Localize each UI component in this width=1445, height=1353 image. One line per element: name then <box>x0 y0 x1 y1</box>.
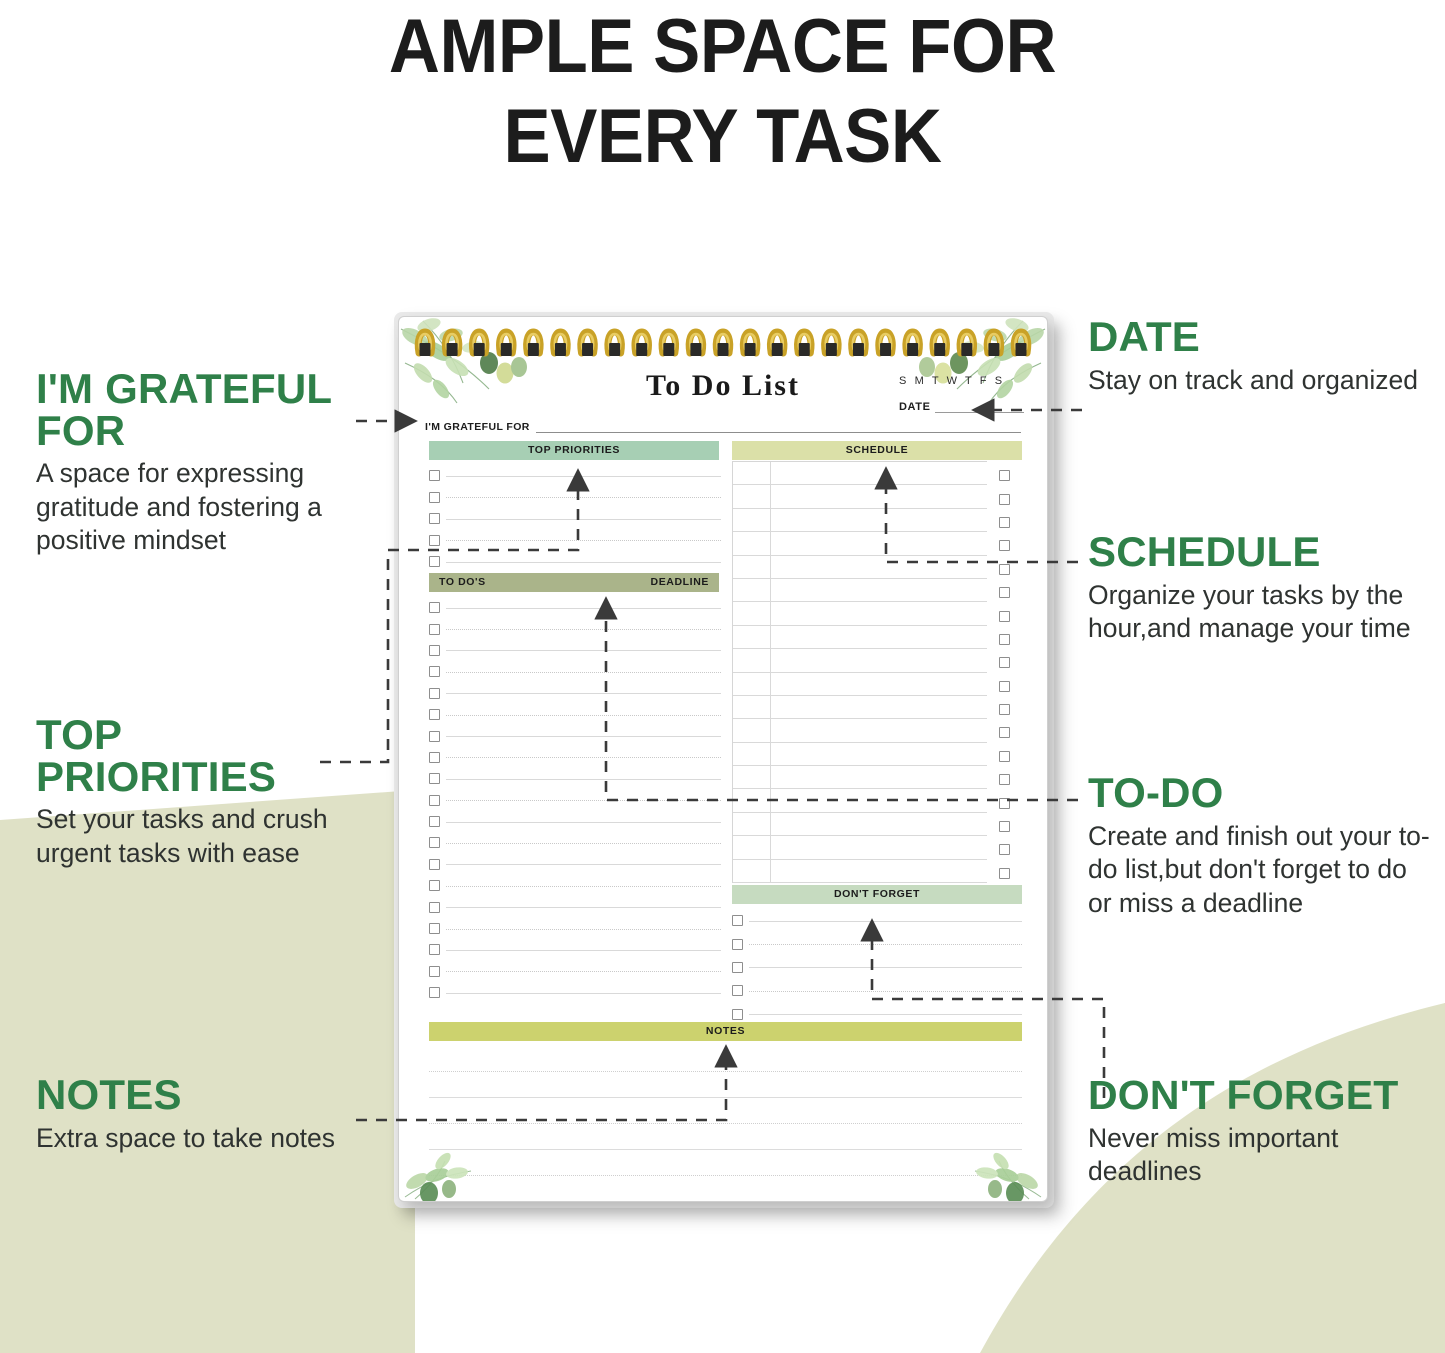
checkbox[interactable] <box>429 709 440 720</box>
list-item[interactable] <box>429 661 721 682</box>
schedule-entry-cell[interactable] <box>771 743 987 765</box>
schedule-row[interactable] <box>733 860 987 883</box>
leaf-decoration-bottom-left <box>399 1131 559 1201</box>
list-item[interactable] <box>429 790 721 811</box>
callout-todo: TO-DO Create and finish out your to-do l… <box>1088 772 1433 921</box>
callout-top-priorities-body: Set your tasks and crush urgent tasks wi… <box>36 803 366 870</box>
schedule-row[interactable] <box>733 673 987 696</box>
checkbox[interactable] <box>429 666 440 677</box>
schedule-row[interactable] <box>733 766 987 789</box>
notes-line[interactable] <box>429 1046 1022 1072</box>
schedule-time-cell[interactable] <box>733 579 771 601</box>
schedule-checkbox-row[interactable] <box>999 721 1015 744</box>
grateful-write-line[interactable] <box>536 423 1021 433</box>
write-line[interactable] <box>446 671 721 673</box>
write-line[interactable] <box>446 842 721 844</box>
schedule-entry-cell[interactable] <box>771 532 987 554</box>
schedule-checkbox-row[interactable] <box>999 581 1015 604</box>
date-label: DATE <box>899 401 931 413</box>
checkbox[interactable] <box>732 962 743 973</box>
list-item[interactable] <box>429 508 721 530</box>
checkbox[interactable] <box>429 902 440 913</box>
checkbox[interactable] <box>429 492 440 503</box>
schedule-entry-cell[interactable] <box>771 485 987 507</box>
bar-todos: TO DO'S DEADLINE <box>429 573 719 592</box>
list-item[interactable] <box>732 1003 1022 1026</box>
schedule-row[interactable] <box>733 836 987 859</box>
schedule-row[interactable] <box>733 485 987 508</box>
write-line[interactable] <box>446 475 721 477</box>
schedule-entry-cell[interactable] <box>771 509 987 531</box>
schedule-entry-cell[interactable] <box>771 860 987 882</box>
checkbox[interactable] <box>732 915 743 926</box>
list-item[interactable] <box>429 704 721 725</box>
list-item[interactable] <box>429 640 721 661</box>
checkbox[interactable] <box>429 944 440 955</box>
callout-notes: NOTES Extra space to take notes <box>36 1074 396 1155</box>
schedule-entry-cell[interactable] <box>771 789 987 811</box>
callout-todo-body: Create and finish out your to-do list,bu… <box>1088 820 1433 921</box>
bar-top-priorities: TOP PRIORITIES <box>429 441 719 460</box>
checkbox[interactable] <box>999 751 1010 762</box>
list-item[interactable] <box>429 618 721 639</box>
checkbox[interactable] <box>429 795 440 806</box>
list-item[interactable] <box>732 956 1022 979</box>
schedule-entry-cell[interactable] <box>771 696 987 718</box>
schedule-checkbox-row[interactable] <box>999 558 1015 581</box>
checkbox[interactable] <box>999 587 1010 598</box>
schedule-checkbox-row[interactable] <box>999 464 1015 487</box>
checkbox[interactable] <box>429 645 440 656</box>
schedule-grid[interactable] <box>732 461 987 883</box>
checkbox[interactable] <box>429 731 440 742</box>
schedule-checkbox-row[interactable] <box>999 791 1015 814</box>
schedule-entry-cell[interactable] <box>771 766 987 788</box>
schedule-checkbox-row[interactable] <box>999 628 1015 651</box>
list-item[interactable] <box>429 918 721 939</box>
checkbox[interactable] <box>429 624 440 635</box>
schedule-row[interactable] <box>733 696 987 719</box>
write-line[interactable] <box>446 949 721 951</box>
checkbox[interactable] <box>429 513 440 524</box>
write-line[interactable] <box>446 970 721 972</box>
schedule-row[interactable] <box>733 743 987 766</box>
schedule-row[interactable] <box>733 789 987 812</box>
checkbox[interactable] <box>732 1009 743 1020</box>
checkbox[interactable] <box>429 773 440 784</box>
list-item[interactable] <box>429 811 721 832</box>
schedule-row[interactable] <box>733 509 987 532</box>
schedule-checkbox-row[interactable] <box>999 604 1015 627</box>
list-item[interactable] <box>429 551 721 573</box>
bar-dont-forget: DON'T FORGET <box>732 885 1022 904</box>
checkbox[interactable] <box>429 816 440 827</box>
schedule-time-cell[interactable] <box>733 509 771 531</box>
grateful-label: I'M GRATEFUL FOR <box>425 421 530 433</box>
write-line[interactable] <box>446 692 721 694</box>
checkbox[interactable] <box>732 985 743 996</box>
list-item[interactable] <box>429 939 721 960</box>
write-line[interactable] <box>446 561 721 563</box>
callout-date-title: DATE <box>1088 316 1428 358</box>
write-line[interactable] <box>446 714 721 716</box>
notes-line[interactable] <box>429 1098 1022 1124</box>
checkbox[interactable] <box>999 470 1010 481</box>
write-line[interactable] <box>446 799 721 801</box>
write-line[interactable] <box>749 990 1022 992</box>
checkbox[interactable] <box>999 727 1010 738</box>
schedule-row[interactable] <box>733 719 987 742</box>
schedule-entry-cell[interactable] <box>771 719 987 741</box>
schedule-checkbox-column[interactable] <box>999 464 1015 885</box>
checkbox[interactable] <box>429 880 440 891</box>
callout-schedule-body: Organize your tasks by the hour,and mana… <box>1088 579 1433 646</box>
write-line[interactable] <box>446 756 721 758</box>
checkbox[interactable] <box>429 923 440 934</box>
bar-todos-label: TO DO'S <box>439 573 486 592</box>
schedule-time-cell[interactable] <box>733 766 771 788</box>
checkbox[interactable] <box>999 634 1010 645</box>
list-item[interactable] <box>429 683 721 704</box>
schedule-time-cell[interactable] <box>733 789 771 811</box>
schedule-checkbox-row[interactable] <box>999 487 1015 510</box>
list-item[interactable] <box>429 768 721 789</box>
schedule-row[interactable] <box>733 579 987 602</box>
write-line[interactable] <box>749 1013 1022 1015</box>
callout-dont-forget-title: DON'T FORGET <box>1088 1075 1438 1116</box>
write-line[interactable] <box>446 607 721 609</box>
schedule-row[interactable] <box>733 556 987 579</box>
schedule-entry-cell[interactable] <box>771 836 987 858</box>
write-line[interactable] <box>446 885 721 887</box>
schedule-row[interactable] <box>733 649 987 672</box>
checkbox[interactable] <box>999 704 1010 715</box>
callout-top-priorities: TOP PRIORITIES Set your tasks and crush … <box>36 714 366 870</box>
page-headline: AMPLE SPACE FOR EVERY TASK <box>51 2 1395 181</box>
leaf-decoration-bottom-right <box>877 1129 1047 1201</box>
schedule-checkbox-row[interactable] <box>999 511 1015 534</box>
write-line[interactable] <box>749 920 1022 922</box>
dont-forget-rows[interactable] <box>732 909 1022 1026</box>
write-line[interactable] <box>446 821 721 823</box>
list-item[interactable] <box>732 909 1022 932</box>
schedule-row[interactable] <box>733 462 987 485</box>
schedule-time-cell[interactable] <box>733 626 771 648</box>
schedule-time-cell[interactable] <box>733 673 771 695</box>
list-item[interactable] <box>429 982 721 1003</box>
top-priorities-rows[interactable] <box>429 465 721 573</box>
schedule-entry-cell[interactable] <box>771 602 987 624</box>
schedule-checkbox-row[interactable] <box>999 815 1015 838</box>
schedule-checkbox-row[interactable] <box>999 862 1015 885</box>
schedule-row[interactable] <box>733 532 987 555</box>
bar-schedule: SCHEDULE <box>732 441 1022 460</box>
list-item[interactable] <box>429 725 721 746</box>
list-item[interactable] <box>429 875 721 896</box>
list-item[interactable] <box>429 487 721 509</box>
checkbox[interactable] <box>999 517 1010 528</box>
schedule-time-cell[interactable] <box>733 485 771 507</box>
write-line[interactable] <box>446 539 721 541</box>
schedule-time-cell[interactable] <box>733 860 771 882</box>
checkbox[interactable] <box>429 556 440 567</box>
schedule-checkbox-row[interactable] <box>999 768 1015 791</box>
list-item[interactable] <box>429 747 721 768</box>
callout-notes-body: Extra space to take notes <box>36 1122 396 1156</box>
write-line[interactable] <box>749 966 1022 968</box>
callout-notes-title: NOTES <box>36 1074 396 1116</box>
callout-date: DATE Stay on track and organized <box>1088 316 1428 397</box>
to-do-list-notepad: To Do List S M T W T F S DATE I'M GRATEF… <box>398 316 1048 1202</box>
list-item[interactable] <box>429 854 721 875</box>
checkbox[interactable] <box>999 844 1010 855</box>
checkbox[interactable] <box>429 535 440 546</box>
write-line[interactable] <box>446 518 721 520</box>
checkbox[interactable] <box>999 540 1010 551</box>
list-item[interactable] <box>429 961 721 982</box>
write-line[interactable] <box>446 992 721 994</box>
schedule-entry-cell[interactable] <box>771 579 987 601</box>
checkbox[interactable] <box>999 774 1010 785</box>
headline-line-2: EVERY TASK <box>51 92 1395 182</box>
callout-todo-title: TO-DO <box>1088 772 1433 814</box>
checkbox[interactable] <box>999 821 1010 832</box>
schedule-time-cell[interactable] <box>733 462 771 484</box>
callout-schedule-title: SCHEDULE <box>1088 531 1433 573</box>
schedule-entry-cell[interactable] <box>771 626 987 648</box>
checkbox[interactable] <box>999 564 1010 575</box>
list-item[interactable] <box>429 465 721 487</box>
checkbox[interactable] <box>429 859 440 870</box>
checkbox[interactable] <box>999 798 1010 809</box>
list-item[interactable] <box>732 979 1022 1002</box>
date-field[interactable]: DATE <box>899 401 1024 413</box>
list-item[interactable] <box>429 597 721 618</box>
write-line[interactable] <box>446 778 721 780</box>
schedule-time-cell[interactable] <box>733 602 771 624</box>
schedule-time-cell[interactable] <box>733 696 771 718</box>
schedule-time-cell[interactable] <box>733 743 771 765</box>
callout-top-priorities-title: TOP PRIORITIES <box>36 714 366 797</box>
list-item[interactable] <box>429 832 721 853</box>
spiral-binding <box>399 316 1047 361</box>
schedule-entry-cell[interactable] <box>771 813 987 835</box>
schedule-time-cell[interactable] <box>733 649 771 671</box>
list-item[interactable] <box>732 932 1022 955</box>
checkbox[interactable] <box>429 688 440 699</box>
callout-dont-forget-body: Never miss important deadlines <box>1088 1122 1438 1189</box>
notes-line[interactable] <box>429 1072 1022 1098</box>
list-item[interactable] <box>429 896 721 917</box>
schedule-row[interactable] <box>733 602 987 625</box>
write-line[interactable] <box>446 928 721 930</box>
infographic-canvas: AMPLE SPACE FOR EVERY TASK <box>0 0 1445 1353</box>
schedule-checkbox-row[interactable] <box>999 745 1015 768</box>
callout-grateful: I'M GRATEFUL FOR A space for expressing … <box>36 368 366 558</box>
write-line[interactable] <box>446 649 721 651</box>
schedule-time-cell[interactable] <box>733 836 771 858</box>
checkbox[interactable] <box>429 837 440 848</box>
schedule-time-cell[interactable] <box>733 532 771 554</box>
schedule-checkbox-row[interactable] <box>999 675 1015 698</box>
write-line[interactable] <box>749 943 1022 945</box>
checkbox[interactable] <box>429 987 440 998</box>
checkbox[interactable] <box>999 494 1010 505</box>
schedule-checkbox-row[interactable] <box>999 651 1015 674</box>
bar-deadline-label: DEADLINE <box>651 573 709 592</box>
schedule-checkbox-row[interactable] <box>999 838 1015 861</box>
write-line[interactable] <box>446 628 721 630</box>
checkbox[interactable] <box>999 868 1010 879</box>
days-of-week: S M T W T F S <box>899 375 1009 387</box>
checkbox[interactable] <box>999 657 1010 668</box>
checkbox[interactable] <box>732 939 743 950</box>
schedule-entry-cell[interactable] <box>771 649 987 671</box>
schedule-entry-cell[interactable] <box>771 673 987 695</box>
schedule-time-cell[interactable] <box>733 556 771 578</box>
headline-line-1: AMPLE SPACE FOR <box>389 4 1056 89</box>
checkbox[interactable] <box>429 966 440 977</box>
grateful-field[interactable]: I'M GRATEFUL FOR <box>425 421 1021 433</box>
schedule-entry-cell[interactable] <box>771 462 987 484</box>
schedule-checkbox-row[interactable] <box>999 698 1015 721</box>
checkbox[interactable] <box>429 602 440 613</box>
checkbox[interactable] <box>429 470 440 481</box>
callout-date-body: Stay on track and organized <box>1088 364 1428 398</box>
callout-grateful-body: A space for expressing gratitude and fos… <box>36 457 366 558</box>
schedule-time-cell[interactable] <box>733 813 771 835</box>
schedule-entry-cell[interactable] <box>771 556 987 578</box>
write-line[interactable] <box>446 496 721 498</box>
list-item[interactable] <box>429 530 721 552</box>
schedule-time-cell[interactable] <box>733 719 771 741</box>
checkbox[interactable] <box>999 681 1010 692</box>
schedule-row[interactable] <box>733 813 987 836</box>
schedule-row[interactable] <box>733 626 987 649</box>
write-line[interactable] <box>446 863 721 865</box>
schedule-checkbox-row[interactable] <box>999 534 1015 557</box>
callout-grateful-title: I'M GRATEFUL FOR <box>36 368 366 451</box>
callout-schedule: SCHEDULE Organize your tasks by the hour… <box>1088 531 1433 646</box>
checkbox[interactable] <box>999 611 1010 622</box>
date-write-line[interactable] <box>935 402 1024 413</box>
write-line[interactable] <box>446 735 721 737</box>
todo-rows[interactable] <box>429 597 721 1003</box>
callout-dont-forget: DON'T FORGET Never miss important deadli… <box>1088 1075 1438 1189</box>
write-line[interactable] <box>446 906 721 908</box>
checkbox[interactable] <box>429 752 440 763</box>
